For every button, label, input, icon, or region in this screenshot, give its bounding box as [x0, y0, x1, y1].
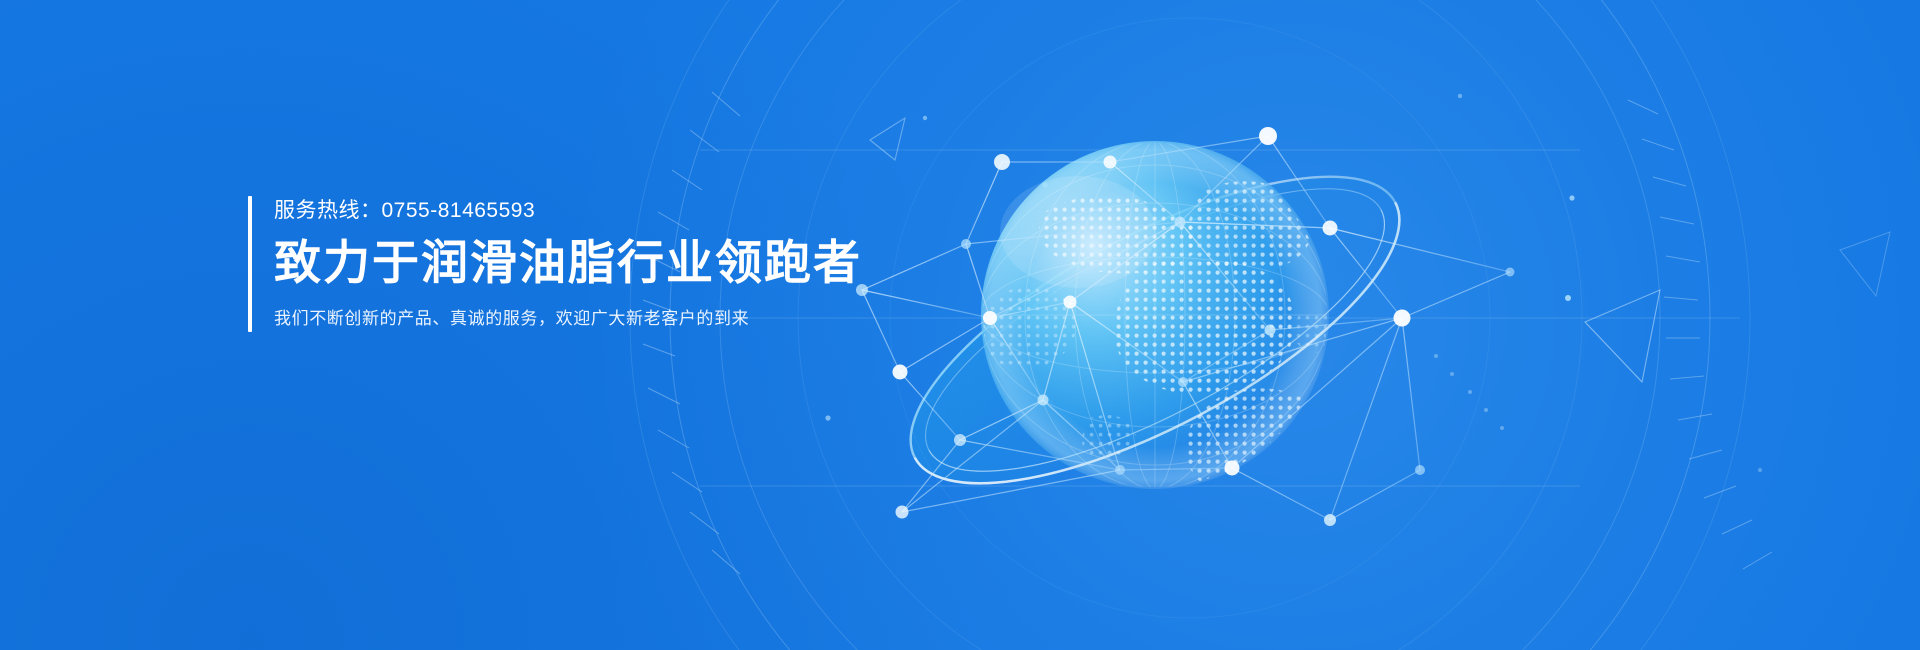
hero-text-block: 服务热线：0755-81465593 致力于润滑油脂行业领跑者 我们不断创新的产…	[248, 196, 862, 332]
service-hotline: 服务热线：0755-81465593	[274, 196, 862, 226]
hero-copy: 服务热线：0755-81465593 致力于润滑油脂行业领跑者 我们不断创新的产…	[274, 196, 862, 332]
accent-bar	[248, 196, 252, 332]
hero-headline: 致力于润滑油脂行业领跑者	[274, 232, 862, 294]
hero-banner: 服务热线：0755-81465593 致力于润滑油脂行业领跑者 我们不断创新的产…	[0, 0, 1920, 650]
hero-subheadline: 我们不断创新的产品、真诚的服务，欢迎广大新老客户的到来	[274, 306, 862, 332]
